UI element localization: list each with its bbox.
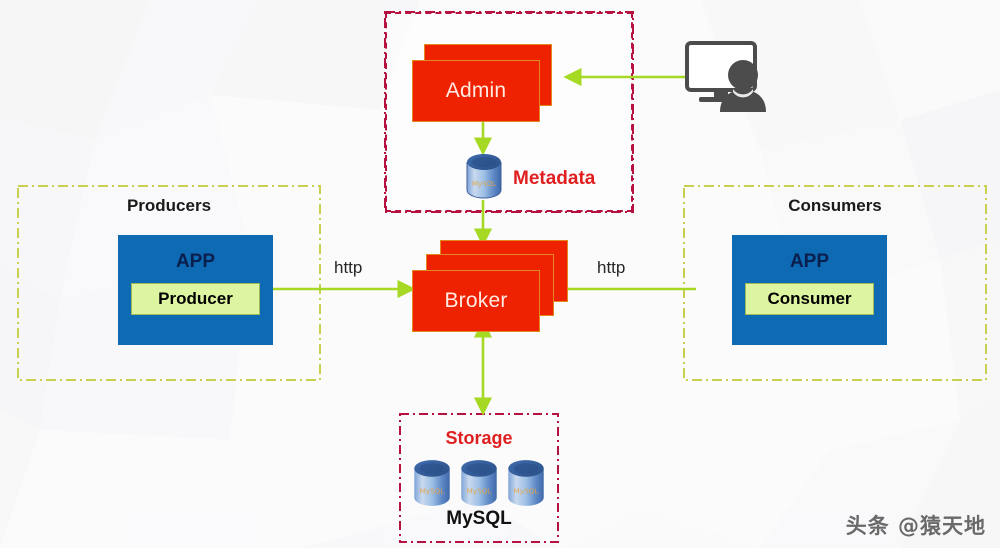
admin-stack-layer-front: Admin bbox=[412, 60, 540, 122]
monitor-user-icon bbox=[684, 40, 776, 112]
node-consumer-app[interactable]: APP Consumer bbox=[732, 235, 887, 345]
consumer-app-label: APP bbox=[732, 251, 887, 273]
edge-label-consumer-http: http bbox=[597, 258, 625, 278]
producer-app-label: APP bbox=[118, 251, 273, 273]
broker-label: Broker bbox=[444, 289, 507, 313]
metadata-db-icon: MySQL bbox=[464, 152, 504, 200]
node-admin[interactable]: Admin bbox=[412, 44, 557, 124]
storage-db-icon-2: MySQL bbox=[457, 458, 501, 508]
edge-label-producer-http: http bbox=[334, 258, 362, 278]
metadata-label: Metadata bbox=[513, 168, 595, 190]
consumer-role-box: Consumer bbox=[745, 283, 874, 315]
svg-text:MySQL: MySQL bbox=[466, 486, 492, 495]
diagram-canvas: Producers Consumers Storage bbox=[0, 0, 1000, 548]
admin-label: Admin bbox=[446, 79, 507, 103]
node-broker[interactable]: Broker bbox=[412, 240, 572, 336]
svg-text:MySQL: MySQL bbox=[472, 180, 496, 188]
svg-text:MySQL: MySQL bbox=[513, 486, 539, 495]
storage-db-icon-3: MySQL bbox=[504, 458, 548, 508]
storage-mysql-caption: MySQL bbox=[398, 508, 560, 530]
svg-text:MySQL: MySQL bbox=[419, 486, 445, 495]
node-producer-app[interactable]: APP Producer bbox=[118, 235, 273, 345]
watermark: 头条 @猿天地 bbox=[846, 510, 986, 540]
broker-stack-layer-front: Broker bbox=[412, 270, 540, 332]
producer-role-box: Producer bbox=[131, 283, 260, 315]
storage-db-icon-1: MySQL bbox=[410, 458, 454, 508]
